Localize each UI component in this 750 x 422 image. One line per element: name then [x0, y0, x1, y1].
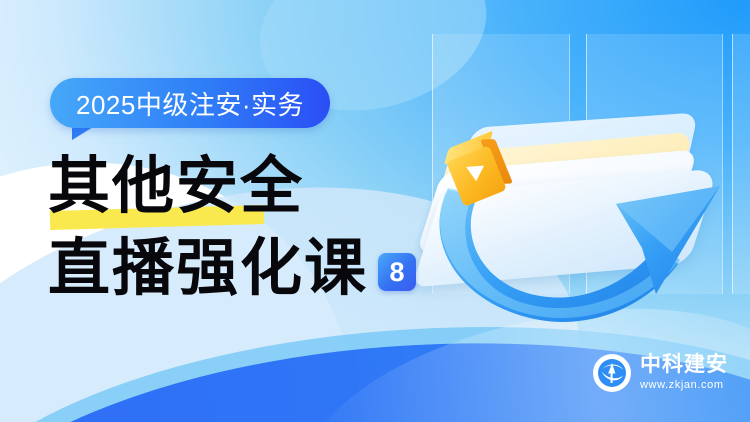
course-banner: 2025中级注安·实务 其他安全 直播强化课 8 中科建安 www.zkjan.…: [0, 0, 750, 422]
headline-line-1-row: 其他安全: [48, 152, 468, 230]
course-category-badge: 2025中级注安·实务: [50, 78, 330, 128]
headline-line-2: 直播强化课: [48, 234, 368, 304]
course-category-label: 2025中级注安·实务: [76, 85, 304, 122]
headline-line-2-row: 直播强化课 8: [48, 230, 468, 308]
episode-number: 8: [390, 257, 405, 288]
brand-name: 中科建安: [640, 353, 728, 376]
brand-text-block: 中科建安 www.zkjan.com: [640, 353, 728, 392]
headline-line-1: 其他安全: [48, 152, 468, 222]
brand-url: www.zkjan.com: [640, 378, 728, 392]
zkjan-emblem-icon: [593, 354, 631, 392]
headline-block: 其他安全 直播强化课 8: [48, 152, 468, 308]
brand-logo: 中科建安 www.zkjan.com: [593, 353, 728, 392]
episode-number-badge: 8: [378, 253, 416, 291]
play-triangle-icon: [466, 166, 485, 182]
